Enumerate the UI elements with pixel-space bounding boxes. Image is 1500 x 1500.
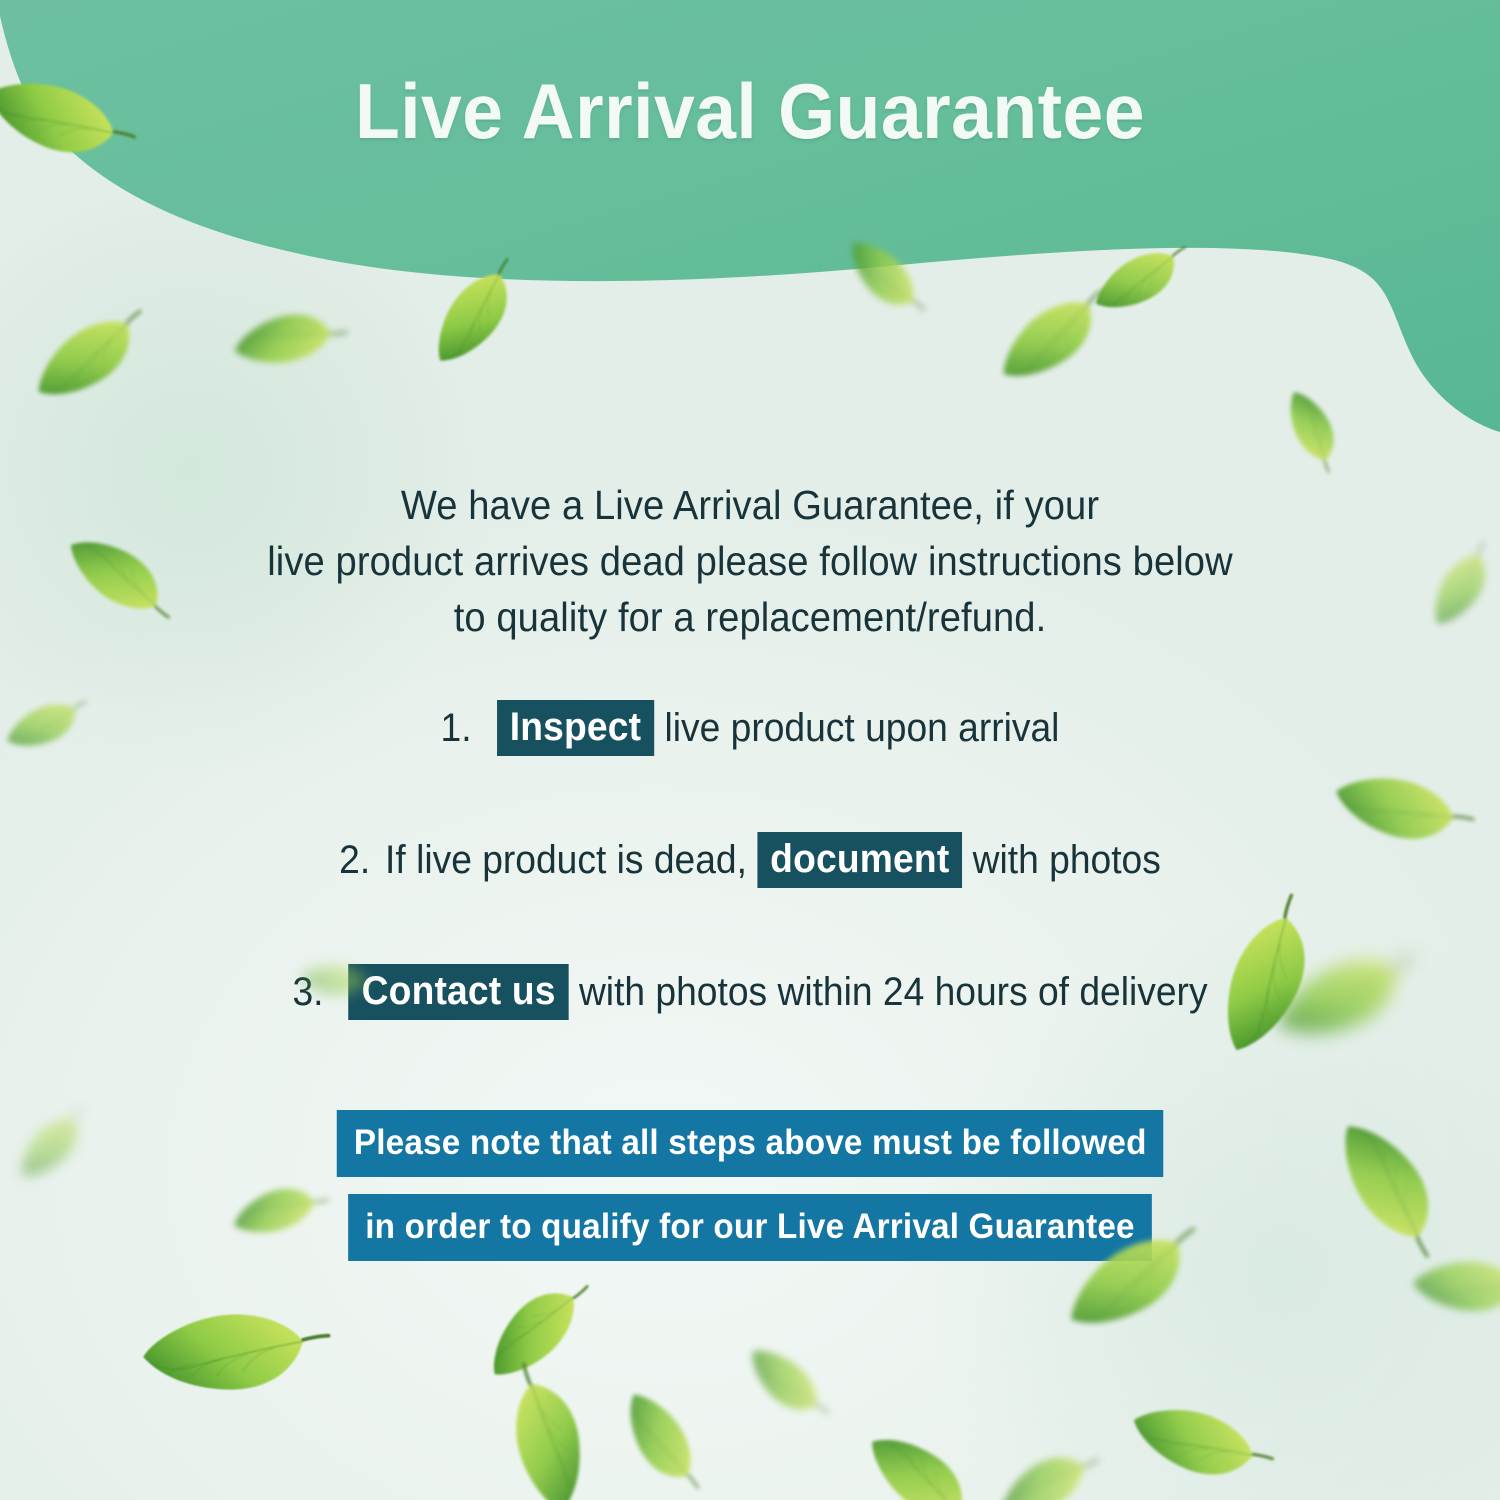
step-3-highlight: Contact us	[349, 964, 569, 1020]
step-item-2: 2. If live product is dead, document wit…	[53, 832, 1448, 888]
step-2-lead: If live product is dead,	[385, 840, 747, 880]
step-item-1: 1. Inspect live product upon arrival	[53, 700, 1448, 756]
step-2-tail: with photos	[973, 840, 1161, 880]
step-3-number: 3.	[292, 972, 323, 1012]
step-item-3: 3. Contact us with photos within 24 hour…	[53, 964, 1448, 1020]
intro-line-2: live product arrives dead please follow …	[53, 534, 1448, 590]
step-1-tail: live product upon arrival	[664, 708, 1059, 748]
intro-line-3: to quality for a replacement/refund.	[53, 590, 1448, 646]
step-2-number: 2.	[339, 840, 370, 880]
page-title: Live Arrival Guarantee	[45, 72, 1455, 150]
intro-line-1: We have a Live Arrival Guarantee, if you…	[53, 478, 1448, 534]
step-1-highlight: Inspect	[497, 700, 655, 756]
live-arrival-guarantee-poster: Live Arrival Guarantee We have a Live Ar…	[0, 0, 1500, 1500]
step-1-number: 1.	[441, 708, 472, 748]
steps-list: 1. Inspect live product upon arrival 2. …	[0, 700, 1500, 1020]
note-bar-line-1: Please note that all steps above must be…	[337, 1110, 1164, 1177]
intro-paragraph: We have a Live Arrival Guarantee, if you…	[53, 478, 1448, 645]
step-2-highlight: document	[757, 832, 962, 888]
note-bar-line-2: in order to qualify for our Live Arrival…	[348, 1194, 1152, 1261]
step-3-tail: with photos within 24 hours of delivery	[579, 972, 1208, 1012]
footer-note: Please note that all steps above must be…	[0, 1110, 1500, 1261]
